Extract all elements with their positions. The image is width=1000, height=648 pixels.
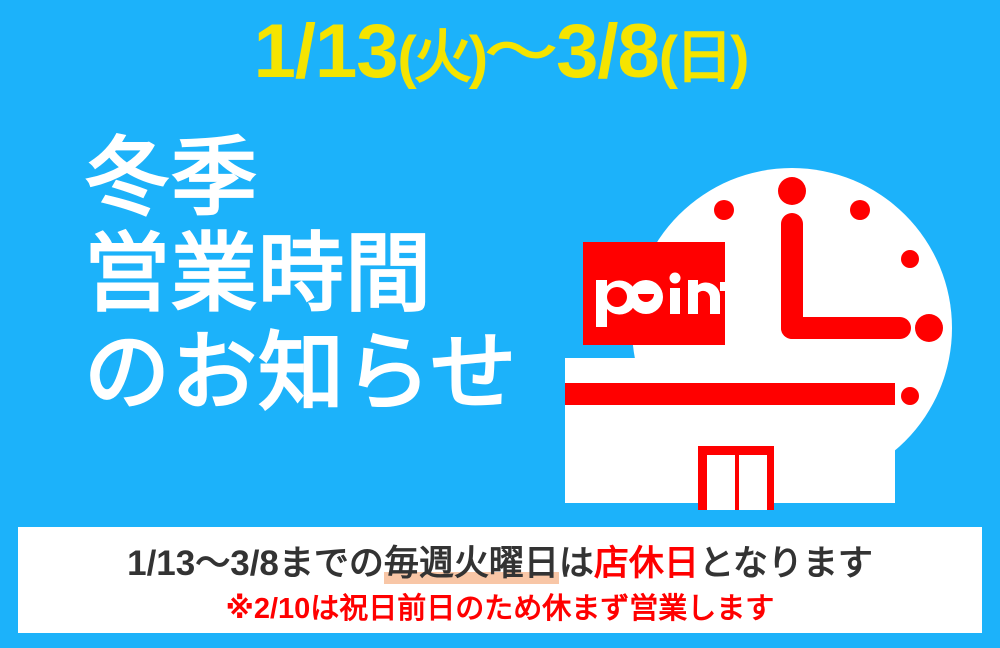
headline-block: 冬季 営業時間 のお知らせ: [84, 136, 604, 415]
notice-line-1: 1/13〜3/8までの毎週火曜日は店休日となります: [18, 535, 982, 586]
store-door-icon: [698, 446, 774, 510]
point-sign-icon: [583, 242, 746, 345]
headline-line-3: のお知らせ: [84, 331, 604, 415]
notice-suffix: となります: [699, 544, 873, 583]
date-range-mark: 〜: [485, 25, 556, 81]
date-end: 3/8: [556, 9, 659, 94]
headline-line-2: 営業時間: [84, 232, 604, 316]
notice-middle: は: [559, 544, 594, 583]
headline-line-1: 冬季: [84, 136, 604, 220]
winter-hours-banner: 1/13(火)〜3/8(日) 冬季 営業時間 のお知らせ: [0, 0, 1000, 648]
date-end-weekday: (日): [659, 25, 747, 90]
date-start-weekday: (火): [397, 25, 485, 90]
notice-line-2: ※2/10は祝日前日のため休まず営業します: [18, 585, 982, 627]
storefront-illustration: [560, 128, 960, 510]
notice-card: 1/13〜3/8までの毎週火曜日は店休日となります ※2/10は祝日前日のため休…: [18, 527, 982, 633]
date-start: 1/13: [254, 9, 398, 94]
date-header: 1/13(火)〜3/8(日): [0, 14, 1000, 90]
notice-prefix: 1/13〜3/8までの: [127, 544, 384, 583]
notice-accent-closed: 店休日: [594, 544, 699, 583]
notice-highlight-weekday: 毎週火曜日: [384, 544, 559, 584]
